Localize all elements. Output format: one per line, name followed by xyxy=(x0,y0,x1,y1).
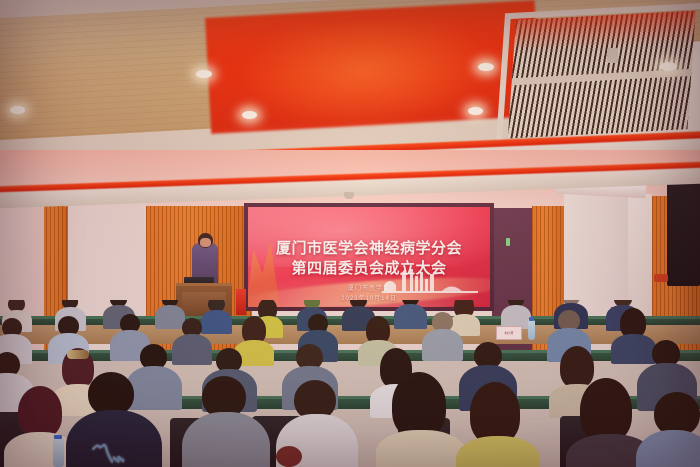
door-exit-indicator xyxy=(506,238,510,246)
name-placard-text: 刘小芳 xyxy=(497,327,521,336)
name-placard: 刘小芳 xyxy=(496,326,522,340)
tshirt-graphic: ⌁ xyxy=(110,446,127,467)
wall-mounted-loudspeaker xyxy=(667,180,700,286)
ceiling-smoke-detector xyxy=(344,192,354,199)
ceiling-red-glow xyxy=(237,15,492,133)
desk-row xyxy=(0,350,700,361)
recessed-downlight xyxy=(10,106,25,114)
hvac-linear-grille xyxy=(508,11,696,139)
recessed-downlight xyxy=(196,70,212,78)
conference-hall-photo: 厦门市医学会神经病学分会 第四届委员会成立大会 厦门市医学会 2023年10月1… xyxy=(0,0,700,467)
presenter-face xyxy=(200,238,211,247)
led-screen-surface: 厦门市医学会神经病学分会 第四届委员会成立大会 厦门市医学会 2023年10月1… xyxy=(248,207,490,307)
recessed-downlight xyxy=(242,111,257,119)
water-bottle xyxy=(53,438,64,467)
led-stage-screen: 厦门市医学会神经病学分会 第四届委员会成立大会 厦门市医学会 2023年10月1… xyxy=(244,203,494,311)
ceiling-projector-mount xyxy=(607,48,618,63)
hair-clip xyxy=(67,350,89,359)
screen-skyline-icon xyxy=(382,267,478,293)
recessed-downlight xyxy=(478,63,494,71)
recessed-downlight xyxy=(660,62,677,71)
screen-title-line-1: 厦门市医学会神经病学分会 xyxy=(248,237,490,258)
recessed-downlight xyxy=(468,107,483,115)
water-bottle xyxy=(528,320,535,340)
audience-area: 刘小芳 xyxy=(0,300,700,467)
seat-logo-badge xyxy=(276,446,302,467)
loudspeaker-bracket xyxy=(654,274,668,282)
